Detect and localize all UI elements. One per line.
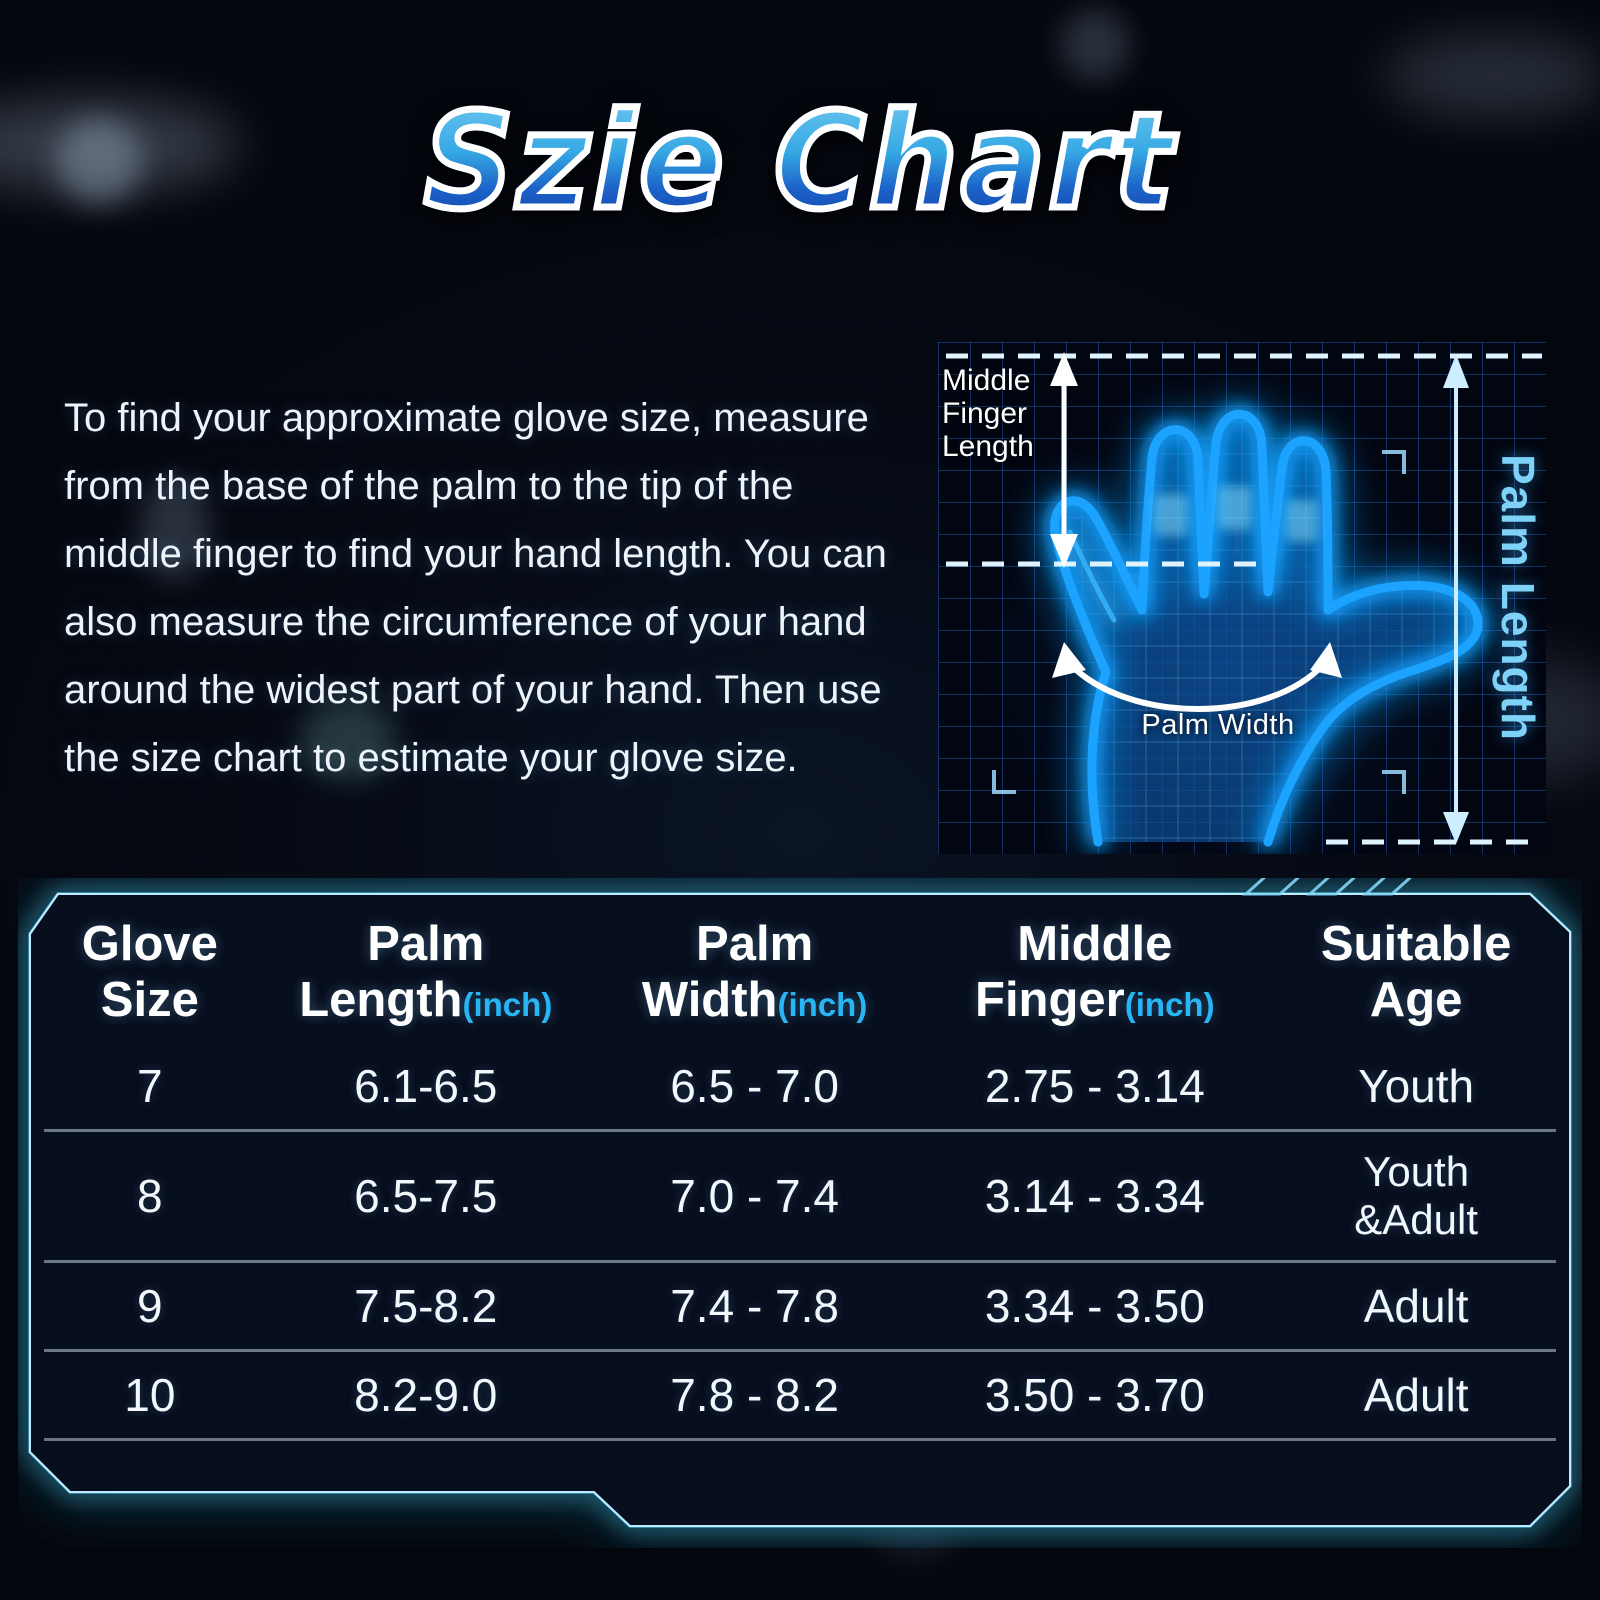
unit-paren-open: ( — [1125, 986, 1136, 1023]
table-row: 10 8.2-9.0 7.8 - 8.2 3.50 - 3.70 Adult — [44, 1351, 1556, 1440]
bokeh-circle — [1060, 10, 1130, 80]
header-line-2: Age — [1276, 972, 1556, 1028]
column-header-palm-width: Palm Width(inch) — [596, 900, 914, 1043]
cell-palm-width: 6.5 - 7.0 — [596, 1043, 914, 1131]
unit-paren-close: ) — [1204, 986, 1215, 1023]
column-header-suitable-age: Suitable Age — [1276, 900, 1556, 1043]
cell-glove-size: 10 — [44, 1351, 256, 1440]
cell-suitable-age: Adult — [1276, 1351, 1556, 1440]
header-line-1: Middle — [913, 916, 1276, 972]
middle-finger-label-line-3: Length — [942, 430, 1062, 463]
header-line-2: Width(inch) — [596, 972, 914, 1033]
cell-palm-width: 7.0 - 7.4 — [596, 1131, 914, 1262]
cell-middle-finger: 3.14 - 3.34 — [913, 1131, 1276, 1262]
hand-measurement-diagram: Middle Finger Length Palm Width Palm Len… — [938, 342, 1546, 854]
instructions-paragraph: To find your approximate glove size, mea… — [64, 384, 904, 792]
table-row: 9 7.5-8.2 7.4 - 7.8 3.34 - 3.50 Adult — [44, 1262, 1556, 1351]
size-chart-table-container: Glove Size Palm Length(inch) Palm Width(… — [44, 900, 1556, 1526]
unit-paren-close: ) — [541, 986, 552, 1023]
page-title: Szie Chart — [424, 96, 1177, 228]
header-line-1: Glove — [44, 916, 256, 972]
middle-finger-label-line-1: Middle — [942, 364, 1062, 397]
header-line-1: Palm — [256, 916, 596, 972]
header-text: Width — [642, 973, 778, 1027]
header-text: Length — [299, 973, 462, 1027]
size-chart-panel: Glove Size Palm Length(inch) Palm Width(… — [18, 878, 1582, 1548]
unit-paren-open: ( — [778, 986, 789, 1023]
unit-paren-open: ( — [462, 986, 473, 1023]
cell-suitable-age: Youth — [1276, 1043, 1556, 1131]
palm-width-label: Palm Width — [1088, 709, 1348, 742]
table-header-row: Glove Size Palm Length(inch) Palm Width(… — [44, 900, 1556, 1043]
unit-label: inch — [473, 986, 541, 1023]
age-line-2: &Adult — [1276, 1196, 1556, 1244]
header-text: Finger — [975, 973, 1125, 1027]
column-header-palm-length: Palm Length(inch) — [256, 900, 596, 1043]
middle-finger-length-label: Middle Finger Length — [942, 364, 1062, 463]
table-row: 8 6.5-7.5 7.0 - 7.4 3.14 - 3.34 Youth &A… — [44, 1131, 1556, 1262]
size-chart-table: Glove Size Palm Length(inch) Palm Width(… — [44, 900, 1556, 1441]
cell-palm-width: 7.4 - 7.8 — [596, 1262, 914, 1351]
column-header-middle-finger: Middle Finger(inch) — [913, 900, 1276, 1043]
cell-middle-finger: 2.75 - 3.14 — [913, 1043, 1276, 1131]
unit-paren-close: ) — [856, 986, 867, 1023]
cell-middle-finger: 3.34 - 3.50 — [913, 1262, 1276, 1351]
cell-palm-length: 8.2-9.0 — [256, 1351, 596, 1440]
cell-palm-length: 6.5-7.5 — [256, 1131, 596, 1262]
header-line-2: Size — [44, 972, 256, 1028]
cell-glove-size: 8 — [44, 1131, 256, 1262]
header-line-1: Palm — [596, 916, 914, 972]
palm-length-label: Palm Length — [1486, 342, 1546, 854]
page-title-container: Szie Chart — [0, 96, 1600, 228]
header-line-2: Length(inch) — [256, 972, 596, 1033]
header-line-1: Suitable — [1276, 916, 1556, 972]
cell-middle-finger: 3.50 - 3.70 — [913, 1351, 1276, 1440]
cell-palm-length: 7.5-8.2 — [256, 1262, 596, 1351]
cell-suitable-age: Youth &Adult — [1276, 1131, 1556, 1262]
cell-palm-length: 6.1-6.5 — [256, 1043, 596, 1131]
panel-decor-slashes — [1246, 878, 1412, 894]
age-line-1: Youth — [1276, 1148, 1556, 1196]
cell-glove-size: 9 — [44, 1262, 256, 1351]
cell-suitable-age: Adult — [1276, 1262, 1556, 1351]
middle-finger-label-line-2: Finger — [942, 397, 1062, 430]
cell-palm-width: 7.8 - 8.2 — [596, 1351, 914, 1440]
unit-label: inch — [789, 986, 857, 1023]
header-line-2: Finger(inch) — [913, 972, 1276, 1033]
table-row: 7 6.1-6.5 6.5 - 7.0 2.75 - 3.14 Youth — [44, 1043, 1556, 1131]
column-header-glove-size: Glove Size — [44, 900, 256, 1043]
cell-glove-size: 7 — [44, 1043, 256, 1131]
unit-label: inch — [1136, 986, 1204, 1023]
